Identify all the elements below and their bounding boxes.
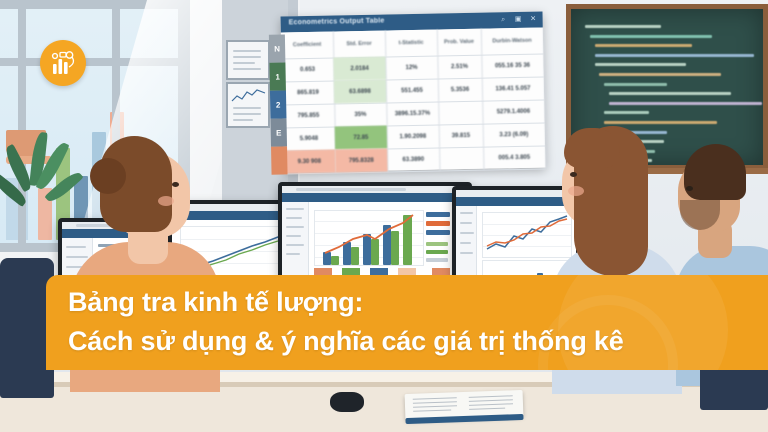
person-eye bbox=[172, 182, 179, 187]
person-cheek bbox=[158, 196, 174, 206]
sheet-side-tabs[interactable]: N12E bbox=[269, 34, 288, 174]
sheet-tab[interactable]: 1 bbox=[269, 62, 286, 90]
banner-title-line2: Cách sử dụng & ý nghĩa các giá trị thống… bbox=[68, 322, 624, 361]
code-line bbox=[609, 102, 762, 105]
sheet-tab[interactable] bbox=[271, 146, 288, 174]
code-line bbox=[590, 35, 712, 38]
person-hair-front bbox=[564, 128, 620, 168]
table-header-cell: t-Statistic bbox=[385, 30, 438, 57]
table-cell: 795.855 bbox=[282, 103, 335, 127]
search-icon[interactable]: ⌕ bbox=[499, 15, 508, 24]
maximize-icon[interactable]: ▣ bbox=[514, 15, 523, 24]
person-cheek bbox=[568, 186, 584, 196]
table-header-cell: Prob. Value bbox=[437, 29, 482, 56]
table-cell: 1.90.2098 bbox=[387, 124, 440, 148]
analytics-chart-badge-icon bbox=[40, 40, 86, 86]
table-cell: 0.653 bbox=[281, 58, 334, 82]
table-cell: 5.9048 bbox=[283, 126, 336, 150]
person-eye bbox=[686, 186, 693, 191]
table-header-cell: Coefficient bbox=[281, 32, 334, 59]
table-cell: 3896.15.37% bbox=[386, 101, 439, 125]
trend-line-svg bbox=[315, 211, 423, 265]
close-icon[interactable]: ✕ bbox=[529, 15, 538, 24]
table-cell: 9.30 908 bbox=[283, 149, 336, 173]
code-line bbox=[595, 44, 692, 47]
table-cell: 865.819 bbox=[282, 80, 335, 104]
table-cell: 5.3536 bbox=[438, 78, 483, 102]
banner-title-line1: Bảng tra kinh tế lượng: bbox=[68, 283, 624, 322]
person-eye bbox=[570, 172, 577, 177]
table-cell: 795.8328 bbox=[335, 148, 388, 172]
table-cell: 39.815 bbox=[439, 124, 484, 148]
person-hair bbox=[684, 144, 746, 200]
table-cell: 12% bbox=[385, 56, 438, 80]
spreadsheet-window[interactable]: Econometrics Output Table ⌕ ▣ ✕ Coeffici… bbox=[281, 11, 546, 172]
table-cell: 2.0184 bbox=[333, 57, 386, 81]
code-line bbox=[595, 54, 754, 57]
table-cell: 136.41 5.057 bbox=[482, 76, 545, 100]
app-navbar bbox=[282, 193, 460, 202]
framed-chart bbox=[226, 82, 270, 128]
table-cell bbox=[438, 101, 483, 125]
table-header-cell: Durbin-Watson bbox=[481, 27, 544, 54]
table-cell: 72.85 bbox=[335, 125, 388, 149]
screen-center-dashboard[interactable] bbox=[282, 186, 460, 288]
table-header-cell: Std. Error bbox=[333, 31, 386, 58]
sheet-tab[interactable]: N bbox=[269, 34, 286, 62]
table-cell bbox=[439, 147, 484, 171]
spreadsheet-grid: CoefficientStd. Errort-StatisticProb. Va… bbox=[281, 27, 546, 172]
table-cell: 055.16 35 36 bbox=[481, 53, 544, 77]
code-line bbox=[599, 73, 721, 76]
mini-line-chart-icon bbox=[231, 88, 267, 104]
code-line bbox=[595, 63, 686, 66]
code-line bbox=[604, 83, 667, 86]
table-cell: 63.6898 bbox=[334, 80, 387, 104]
person-hair-bun bbox=[90, 158, 126, 194]
code-line bbox=[585, 25, 661, 28]
table-row[interactable]: 9.30 908795.832863.3890005.4 3.805 bbox=[283, 145, 545, 174]
framed-document bbox=[226, 40, 270, 80]
combo-chart-plot bbox=[314, 210, 424, 266]
title-banner: Bảng tra kinh tế lượng: Cách sử dụng & ý… bbox=[46, 275, 768, 370]
open-notebook bbox=[405, 390, 524, 420]
code-line bbox=[609, 92, 731, 95]
sheet-tab[interactable]: 2 bbox=[270, 90, 287, 118]
table-cell: 551.455 bbox=[386, 79, 439, 103]
table-cell: 2.51% bbox=[437, 55, 482, 79]
chart-glyph-icon bbox=[40, 40, 86, 86]
illustration-banner: Econometrics Output Table ⌕ ▣ ✕ Coeffici… bbox=[0, 0, 768, 432]
address-bar[interactable] bbox=[296, 188, 406, 191]
table-cell: 63.3890 bbox=[387, 147, 440, 171]
computer-mouse bbox=[330, 392, 364, 412]
banner-title: Bảng tra kinh tế lượng: Cách sử dụng & ý… bbox=[68, 283, 624, 361]
code-line bbox=[604, 111, 649, 114]
sheet-tab[interactable]: E bbox=[270, 118, 287, 146]
table-cell: 35% bbox=[334, 102, 387, 126]
